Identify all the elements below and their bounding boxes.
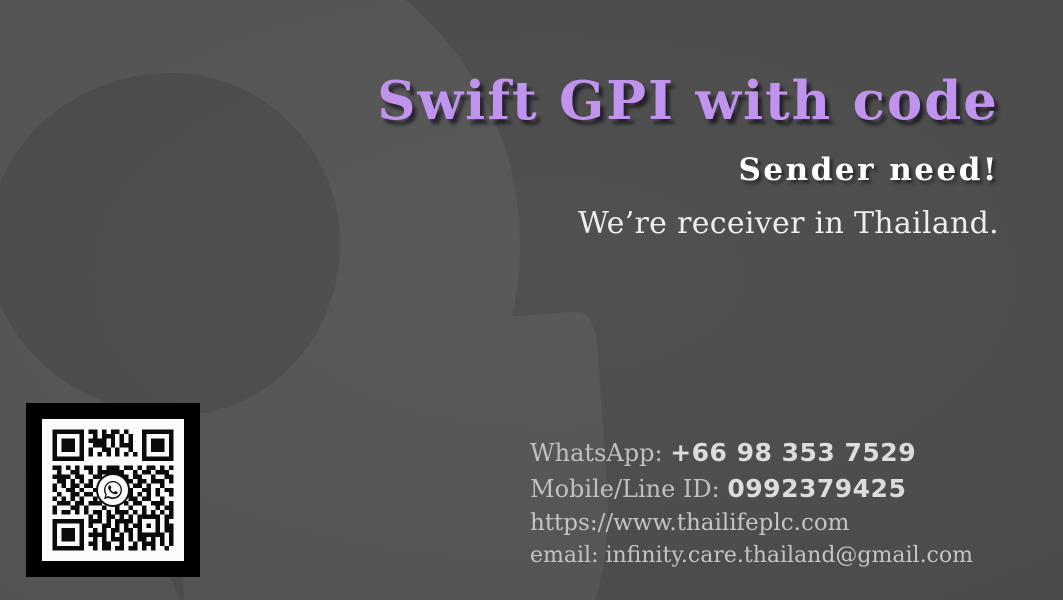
contact-whatsapp: WhatsApp: +66 98 353 7529 [530, 440, 973, 465]
headline-subtitle: Sender need! [259, 152, 999, 188]
contact-email[interactable]: email: infinity.care.thailand@gmail.com [530, 545, 973, 567]
contact-whatsapp-label: WhatsApp: [530, 439, 663, 467]
contact-whatsapp-value[interactable]: +66 98 353 7529 [670, 438, 916, 467]
qr-code[interactable] [42, 419, 184, 561]
headline-block: Swift GPI with code Sender need! We’re r… [259, 74, 999, 241]
contact-details: WhatsApp: +66 98 353 7529 Mobile/Line ID… [530, 440, 973, 567]
headline-tagline: We’re receiver in Thailand. [259, 206, 999, 241]
qr-code-frame[interactable] [26, 403, 200, 577]
business-card-canvas: Swift GPI with code Sender need! We’re r… [0, 0, 1063, 600]
whatsapp-icon [96, 473, 130, 507]
contact-mobile-value[interactable]: 0992379425 [727, 474, 906, 503]
contact-website[interactable]: https://www.thailifeplc.com [530, 512, 973, 535]
contact-mobile: Mobile/Line ID: 0992379425 [530, 476, 973, 501]
contact-mobile-label: Mobile/Line ID: [530, 475, 720, 503]
page-title: Swift GPI with code [259, 74, 999, 130]
